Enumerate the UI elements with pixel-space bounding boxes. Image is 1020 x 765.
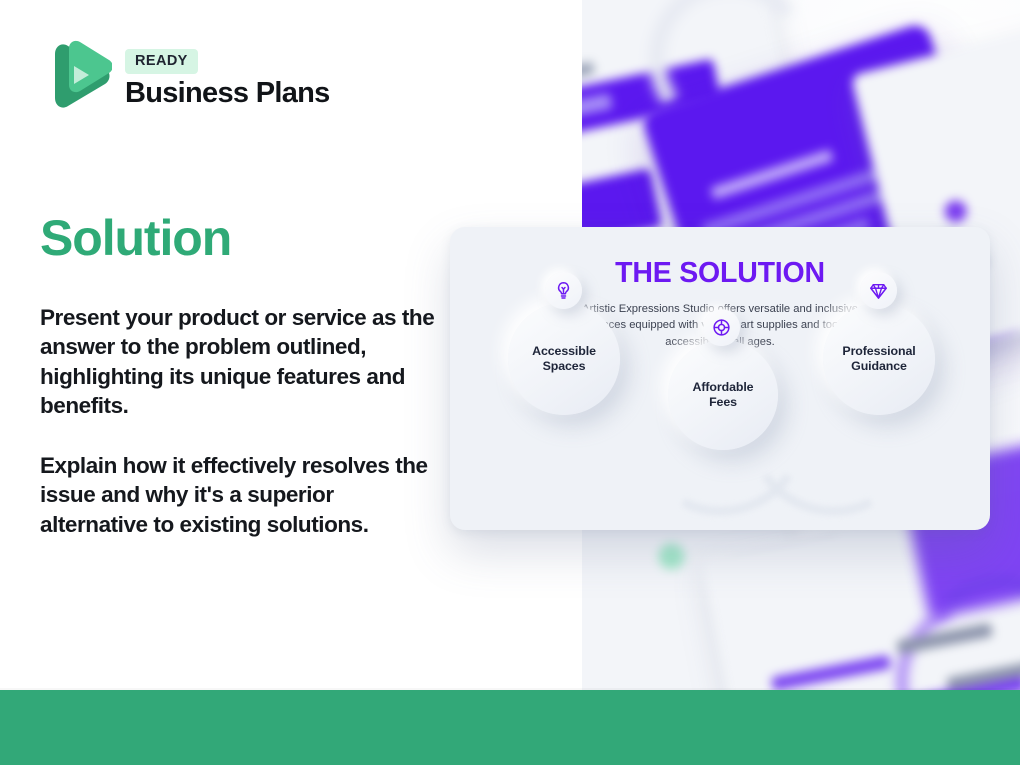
- lifebuoy-icon: [703, 309, 740, 346]
- feature-bubble: Accessible Spaces: [508, 303, 620, 415]
- body-paragraph-1: Present your product or service as the a…: [40, 303, 440, 421]
- feature-label: Professional Guidance: [823, 344, 935, 374]
- brand-lockup: READY Business Plans: [45, 40, 330, 118]
- diamond-icon: [860, 272, 897, 309]
- solution-preview-card: THE SOLUTION Artistic Expressions Studio…: [450, 227, 990, 530]
- feature-bubble: Affordable Fees: [668, 340, 778, 450]
- play-triangle-logo-icon: [45, 40, 112, 118]
- body-copy: Present your product or service as the a…: [40, 303, 440, 539]
- feature-node-group: Accessible Spaces Affordable Fees: [450, 227, 990, 530]
- brand-name: Business Plans: [125, 78, 330, 109]
- ready-badge: READY: [125, 49, 198, 74]
- mockup-dot: [942, 198, 969, 225]
- page-title: Solution: [40, 213, 231, 263]
- lightbulb-icon: [545, 272, 582, 309]
- footer-bar: [0, 690, 1020, 765]
- brand-text: READY Business Plans: [125, 49, 330, 109]
- mockup-bar: [771, 655, 891, 690]
- presentation-slide: READY Business Plans Solution Present yo…: [0, 0, 1020, 765]
- feature-label: Accessible Spaces: [508, 344, 620, 374]
- feature-bubble: Professional Guidance: [823, 303, 935, 415]
- feature-label: Affordable Fees: [668, 380, 778, 410]
- mockup-dot: [656, 541, 687, 572]
- body-paragraph-2: Explain how it effectively resolves the …: [40, 451, 440, 539]
